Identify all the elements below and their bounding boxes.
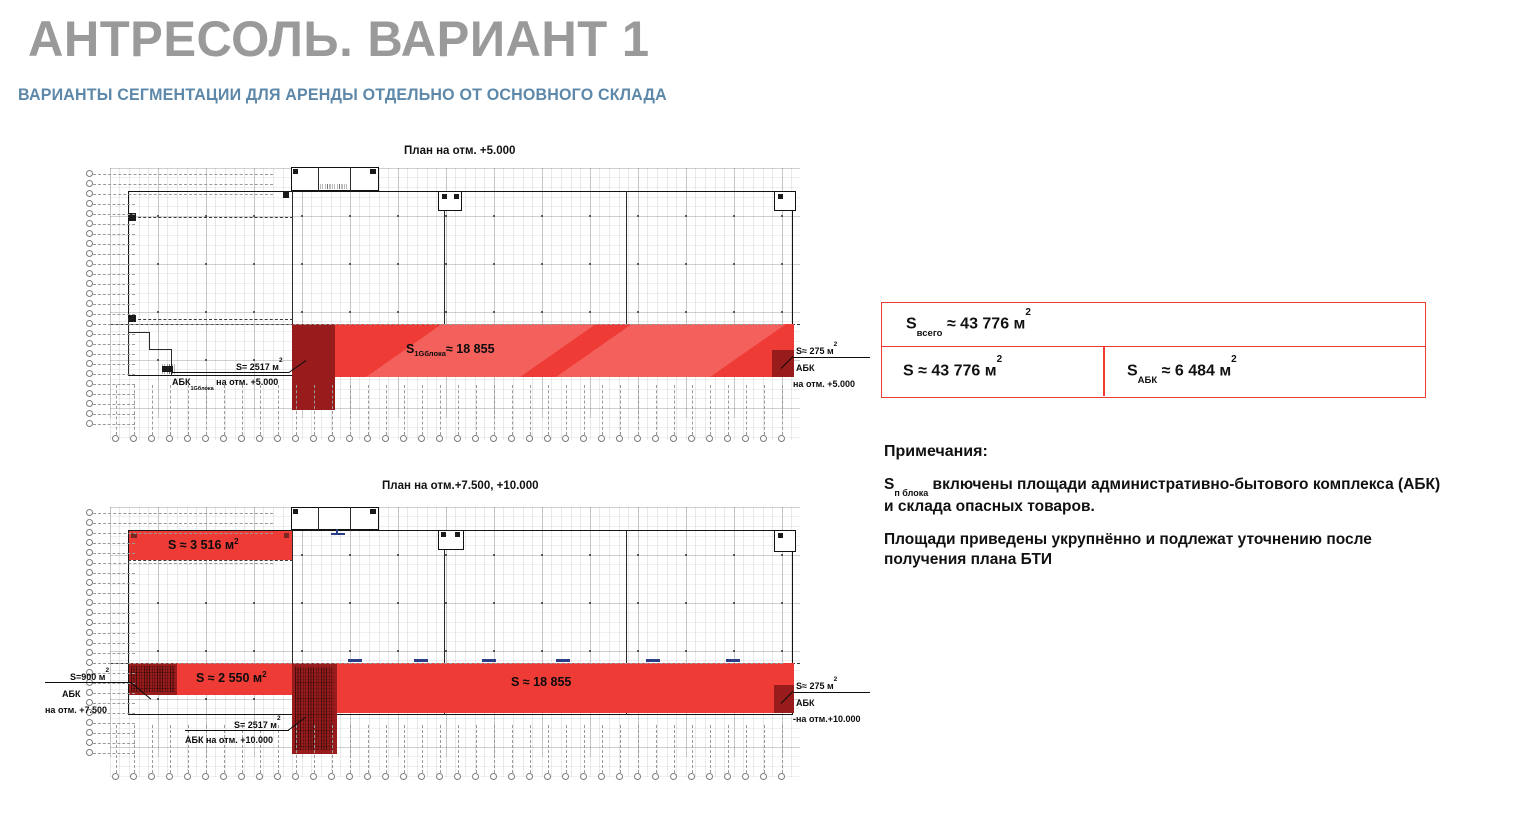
annex-corner-mark [370, 169, 376, 174]
annex-hatch [320, 184, 348, 189]
callout-abk-10000-area: S= 2517 м2 [234, 719, 281, 731]
interior-dashed-line [128, 217, 293, 218]
note-0-symbol: S [884, 476, 894, 493]
note-item: Sп блока включены площади административн… [884, 475, 1444, 516]
summary-table: Sвсего ≈ 43 776 м2 S ≈ 43 776 м2 SАБК ≈ … [881, 302, 1426, 398]
annex-detail-block [291, 507, 379, 530]
right-value: ≈ 6 484 м [1162, 362, 1232, 379]
zone-main-text: S ≈ 18 855 [511, 675, 571, 689]
annex-divider [350, 507, 351, 530]
callout-abk-right-area: S≈ 275 м2 [796, 345, 837, 357]
left-unit-sup: 2 [997, 354, 1003, 365]
callout-abk-right-line2: -на отм.+10.000 [793, 713, 861, 725]
abk-left-area-sup: 2 [279, 357, 283, 364]
corner-detail-mark [454, 194, 459, 199]
abk-area-cell: SАБК ≈ 6 484 м2 [1127, 361, 1237, 383]
right-subscript: АБК [1138, 375, 1158, 386]
callout-abk-7500-line1: АБК [62, 688, 80, 700]
floor-plan-top: План на отм. +5.000 [0, 140, 880, 450]
annex-blue-mark [336, 529, 338, 535]
corner-detail-mark [442, 194, 447, 199]
zone-corner-marker [131, 533, 137, 538]
zone-main-label: S1Gблока≈ 18 855 [406, 342, 495, 356]
zone-north-text: S ≈ 3 516 м [168, 538, 234, 552]
corner-detail-mark [441, 532, 446, 537]
abk-7500-area-sup: 2 [105, 667, 109, 674]
notes-title: Примечания: [884, 443, 1444, 461]
abk-7500-area-text: S=900 м [70, 672, 105, 682]
abk-right-10000-area-sup: 2 [834, 676, 838, 683]
abk-right-area-sup: 2 [834, 341, 838, 348]
note-0-subscript: п блока [894, 488, 928, 498]
annex-corner-mark [370, 509, 376, 514]
callout-abk-7500-area: S=900 м2 [70, 671, 109, 683]
zone-mid-sup: 2 [262, 670, 266, 679]
abk-10000-area-text: S= 2517 м [234, 720, 277, 730]
page-header: АНТРЕСОЛЬ. ВАРИАНТ 1 ВАРИАНТЫ СЕГМЕНТАЦИ… [0, 0, 1520, 120]
notes-block: Примечания: Sп блока включены площади ад… [884, 443, 1444, 584]
zone-main-subscript: 1Gблока [414, 349, 446, 358]
corner-detail-mark [778, 533, 783, 538]
summary-table-row-total: Sвсего ≈ 43 776 м2 [882, 303, 1425, 347]
abk-10000-hatch [295, 667, 334, 750]
note-item: Площади приведены укрупнённо и подлежат … [884, 530, 1444, 570]
total-symbol: S [906, 315, 917, 332]
right-unit-sup: 2 [1231, 354, 1237, 365]
callout-leader-abk-right [793, 357, 870, 358]
annex-divider [350, 167, 351, 191]
abk-right-area-text: S≈ 275 м [796, 346, 834, 356]
abk-left-caption-sub: 1Gблока [190, 386, 213, 392]
plan-bottom-title: План на отм.+7.500, +10.000 [382, 480, 539, 492]
left-symbol: S [903, 362, 914, 379]
abk-left-caption-rest: на отм. +5.000 [214, 377, 279, 387]
annex-corner-mark [293, 169, 298, 174]
zone-abk-right [772, 350, 794, 377]
summary-table-divider [1103, 347, 1105, 396]
callout-leader-abk-right-10000 [793, 692, 870, 693]
right-symbol: S [1127, 362, 1138, 379]
annex-divider [318, 507, 319, 530]
note-0-text: включены площади административно-бытовог… [884, 476, 1440, 515]
page-title: АНТРЕСОЛЬ. ВАРИАНТ 1 [28, 14, 650, 64]
abk-10000-area-sup: 2 [277, 715, 281, 722]
corner-detail-mark [455, 532, 460, 537]
wall-column-mark [283, 191, 289, 198]
plan-top-drawing: S1Gблока≈ 18 855 [86, 160, 801, 450]
annex-corner-mark [293, 509, 298, 514]
zone-north-sup: 2 [234, 537, 238, 546]
annex-blue-mark [331, 533, 345, 535]
callout-abk-7500-line2: на отм. +7.500 [45, 704, 107, 716]
zone-north-label: S ≈ 3 516 м2 [168, 538, 239, 552]
abk-left-area-text: S= 2517 м [236, 362, 279, 372]
room-wall [149, 349, 172, 350]
total-area-cell: Sвсего ≈ 43 776 м2 [906, 314, 1031, 336]
zone-main-value: ≈ 18 855 [446, 342, 495, 356]
callout-abk-right-line1: АБК [796, 697, 814, 709]
callout-abk-right-line1: АБК [796, 362, 814, 374]
note-1-text: Площади приведены укрупнённо и подлежат … [884, 531, 1372, 568]
annex-divider [318, 167, 319, 191]
abk-right-10000-area-text: S≈ 275 м [796, 681, 834, 691]
page-subtitle: ВАРИАНТЫ СЕГМЕНТАЦИИ ДЛЯ АРЕНДЫ ОТДЕЛЬНО… [18, 86, 667, 105]
zone-mid-text: S ≈ 2 550 м [196, 671, 262, 685]
wall-column-mark [129, 315, 136, 322]
interior-dashed-line [128, 560, 293, 561]
callout-abk-10000-caption: АБК на отм. +10.000 [185, 734, 273, 746]
zone-corner-marker [284, 533, 289, 538]
total-value: ≈ 43 776 м [947, 315, 1025, 332]
total-unit-sup: 2 [1025, 307, 1031, 318]
interior-dashed-line [128, 319, 293, 320]
room-wall [149, 332, 150, 350]
warehouse-area-cell: S ≈ 43 776 м2 [903, 361, 1002, 383]
corner-detail-mark [778, 194, 783, 199]
plan-top-title: План на отм. +5.000 [404, 145, 515, 157]
callout-abk-left-area: S= 2517 м2 [236, 361, 283, 373]
callout-abk-right-line2: на отм. +5.000 [793, 378, 855, 390]
left-value: ≈ 43 776 м [918, 362, 996, 379]
callout-abk-left-caption: АБК1Gблока на отм. +5.000 [172, 376, 278, 391]
summary-table-row-split: S ≈ 43 776 м2 SАБК ≈ 6 484 м2 [882, 347, 1425, 396]
callout-abk-right-area: S≈ 275 м2 [796, 680, 837, 692]
floor-plan-bottom: План на отм.+7.500, +10.000 S ≈ 3 516 м2 [0, 475, 880, 795]
total-subscript: всего [917, 328, 943, 339]
abk-left-caption-text: АБК [172, 377, 190, 387]
zone-main-label: S ≈ 18 855 [511, 675, 571, 689]
room-wall [128, 318, 129, 376]
zone-mid-label: S ≈ 2 550 м2 [196, 671, 267, 685]
